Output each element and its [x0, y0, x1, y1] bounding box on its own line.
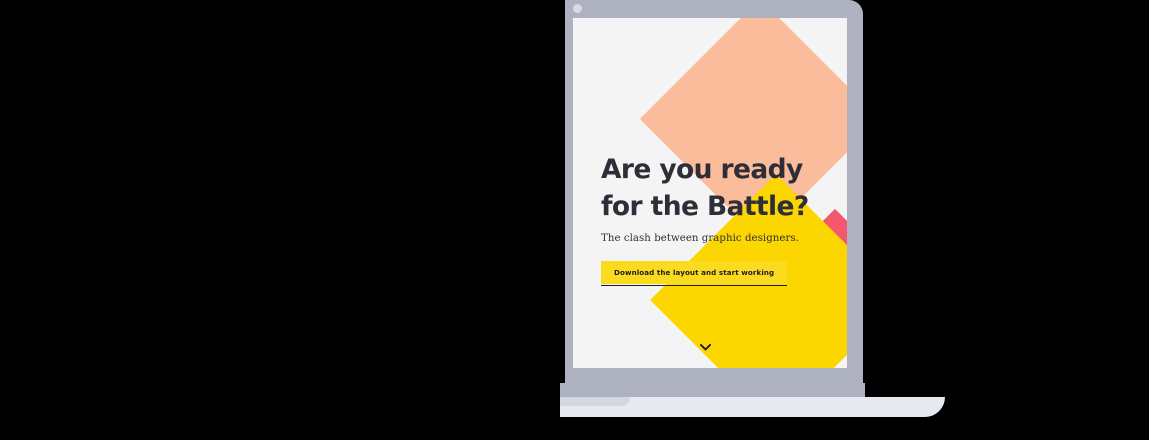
- scroll-down-button[interactable]: [698, 340, 712, 354]
- chevron-down-icon: [700, 344, 711, 351]
- page-title: Are you ready for the Battle?: [601, 152, 847, 225]
- laptop-mockup: Are you ready for the Battle? The clash …: [560, 0, 960, 420]
- cta-wrapper: Download the layout and start working: [601, 261, 787, 284]
- canvas-stage: Are you ready for the Battle? The clash …: [0, 0, 1149, 440]
- camera-dot-icon: [573, 4, 582, 13]
- laptop-base-notch: [560, 397, 630, 406]
- laptop-screen: Are you ready for the Battle? The clash …: [573, 18, 847, 368]
- laptop-base-deck: [560, 383, 865, 397]
- cta-underline: [601, 285, 787, 287]
- hero-content: Are you ready for the Battle? The clash …: [601, 152, 847, 284]
- hero-subtitle: The clash between graphic designers.: [601, 232, 847, 245]
- web-page: Are you ready for the Battle? The clash …: [573, 18, 847, 368]
- download-layout-button[interactable]: Download the layout and start working: [601, 261, 787, 284]
